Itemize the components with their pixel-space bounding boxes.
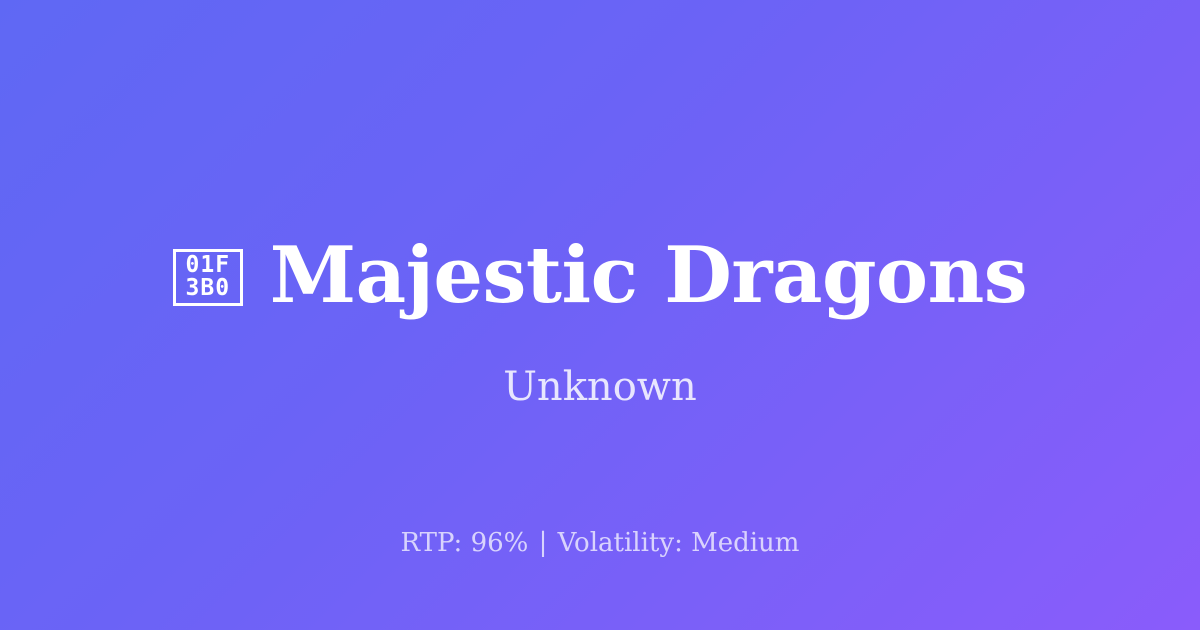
slot-machine-icon: 01F 3B0 xyxy=(173,249,243,306)
volatility-stat: Volatility: Medium xyxy=(558,528,800,558)
game-meta-line: RTP: 96% | Volatility: Medium xyxy=(0,527,1200,559)
slot-machine-icon-codepoint-upper: 01F xyxy=(186,254,231,277)
slot-machine-icon-codepoint-lower: 3B0 xyxy=(186,277,231,300)
page-title: Majestic Dragons xyxy=(270,232,1027,320)
title-row: 01F 3B0 Majestic Dragons xyxy=(0,232,1200,320)
rtp-stat: RTP: 96% xyxy=(401,528,529,558)
game-promo-card: 01F 3B0 Majestic Dragons Unknown RTP: 96… xyxy=(0,0,1200,630)
meta-separator: | xyxy=(537,528,550,558)
provider-subtitle: Unknown xyxy=(0,363,1200,411)
